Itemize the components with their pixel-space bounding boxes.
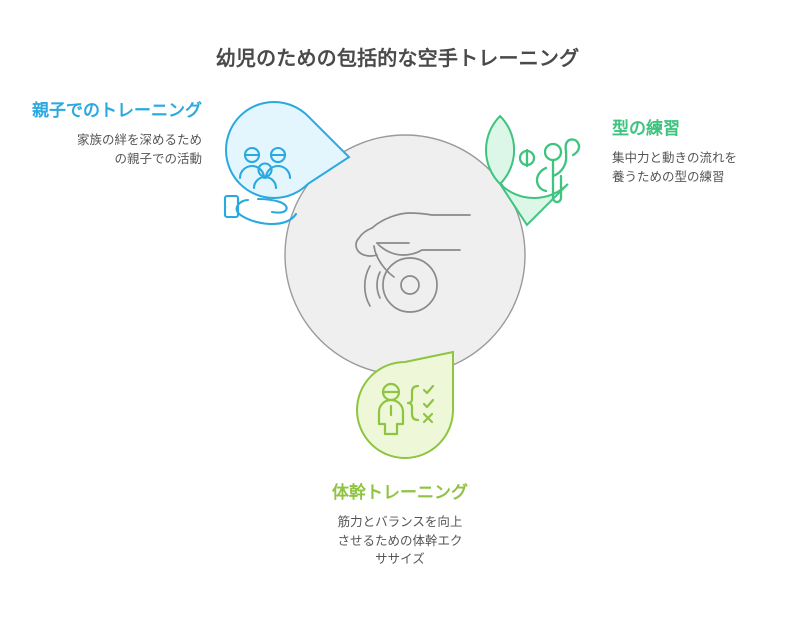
infographic-canvas: 幼児のための包括的な空手トレーニング <box>0 0 795 638</box>
node-description-core: 筋力とバランスを向上 させるための体幹エク ササイズ <box>288 513 512 567</box>
node-heading-core: 体幹トレーニング <box>288 482 512 504</box>
node-heading-parent-child: 親子でのトレーニング <box>12 100 202 122</box>
karate-kick-figure-icon <box>520 139 579 202</box>
node-description-parent-child: 家族の絆を深めるため の親子での活動 <box>12 131 202 167</box>
node-heading-kata: 型の練習 <box>612 118 792 140</box>
node-text-parent-child: 親子でのトレーニング 家族の絆を深めるため の親子での活動 <box>12 100 202 168</box>
node-text-core: 体幹トレーニング 筋力とバランスを向上 させるための体幹エク ササイズ <box>288 482 512 568</box>
node-description-kata: 集中力と動きの流れを 養うための型の練習 <box>612 149 792 185</box>
node-text-kata: 型の練習 集中力と動きの流れを 養うための型の練習 <box>612 118 792 186</box>
